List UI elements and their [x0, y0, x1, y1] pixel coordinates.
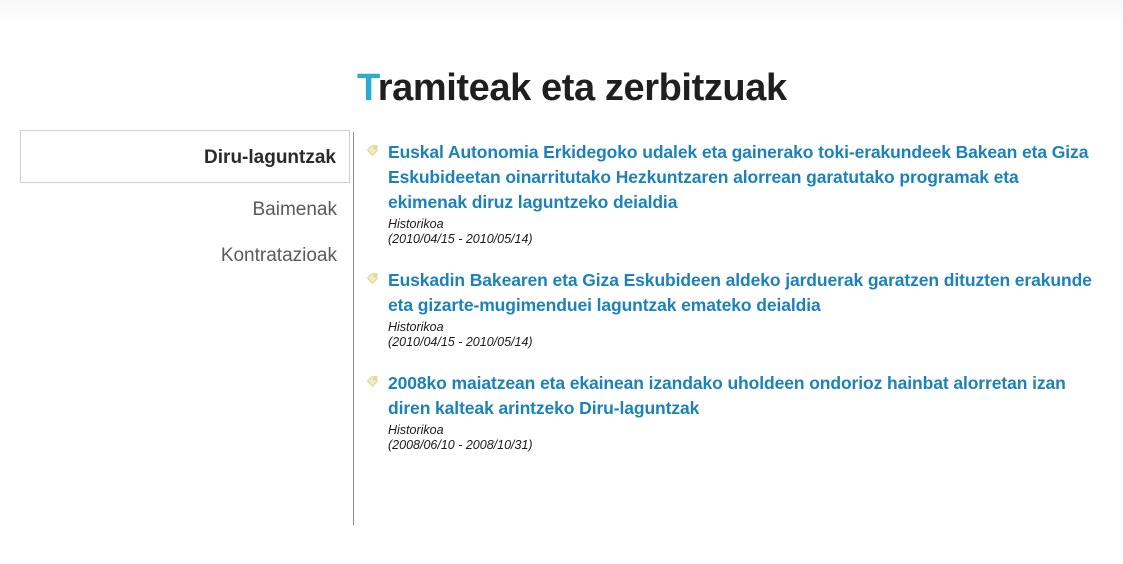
result-status: Historikoa: [388, 320, 444, 334]
list-item: 2008ko maiatzean eta ekainean izandako u…: [366, 371, 1096, 453]
page-title: Tramiteak eta zerbitzuak: [357, 67, 787, 110]
sidebar-item-label: Diru-laguntzak: [204, 147, 336, 168]
result-dates: (2010/04/15 - 2010/05/14): [388, 232, 1096, 247]
list-item: Euskal Autonomia Erkidegoko udalek eta g…: [366, 140, 1096, 247]
result-meta: Historikoa (2008/06/10 - 2008/10/31): [388, 423, 1096, 453]
tag-icon: [366, 272, 379, 285]
result-meta: Historikoa (2010/04/15 - 2010/05/14): [388, 320, 1096, 350]
result-status: Historikoa: [388, 423, 444, 437]
result-dates: (2008/06/10 - 2008/10/31): [388, 438, 1096, 453]
sidebar-item-label: Kontratazioak: [221, 245, 337, 266]
result-dates: (2010/04/15 - 2010/05/14): [388, 335, 1096, 350]
sidebar-item-kontratazioak[interactable]: Kontratazioak: [20, 244, 350, 268]
list-item: Euskadin Bakearen eta Giza Eskubideen al…: [366, 268, 1096, 350]
top-decorative-band: [0, 0, 1123, 26]
sidebar: Diru-laguntzak Baimenak Kontratazioak: [0, 130, 354, 526]
page-title-initial: T: [357, 67, 378, 109]
result-link[interactable]: Euskal Autonomia Erkidegoko udalek eta g…: [388, 140, 1096, 215]
tag-icon: [366, 144, 379, 157]
sidebar-item-baimenak[interactable]: Baimenak: [20, 198, 350, 222]
sidebar-divider: [353, 132, 354, 525]
sidebar-item-label: Baimenak: [253, 199, 338, 220]
tag-icon: [366, 375, 379, 388]
result-link[interactable]: Euskadin Bakearen eta Giza Eskubideen al…: [388, 268, 1096, 318]
result-status: Historikoa: [388, 217, 444, 231]
result-meta: Historikoa (2010/04/15 - 2010/05/14): [388, 217, 1096, 247]
page-title-rest: ramiteak eta zerbitzuak: [378, 67, 787, 109]
result-link[interactable]: 2008ko maiatzean eta ekainean izandako u…: [388, 371, 1096, 421]
results-list: Euskal Autonomia Erkidegoko udalek eta g…: [366, 140, 1096, 453]
sidebar-item-diru-laguntzak[interactable]: Diru-laguntzak: [20, 130, 350, 183]
